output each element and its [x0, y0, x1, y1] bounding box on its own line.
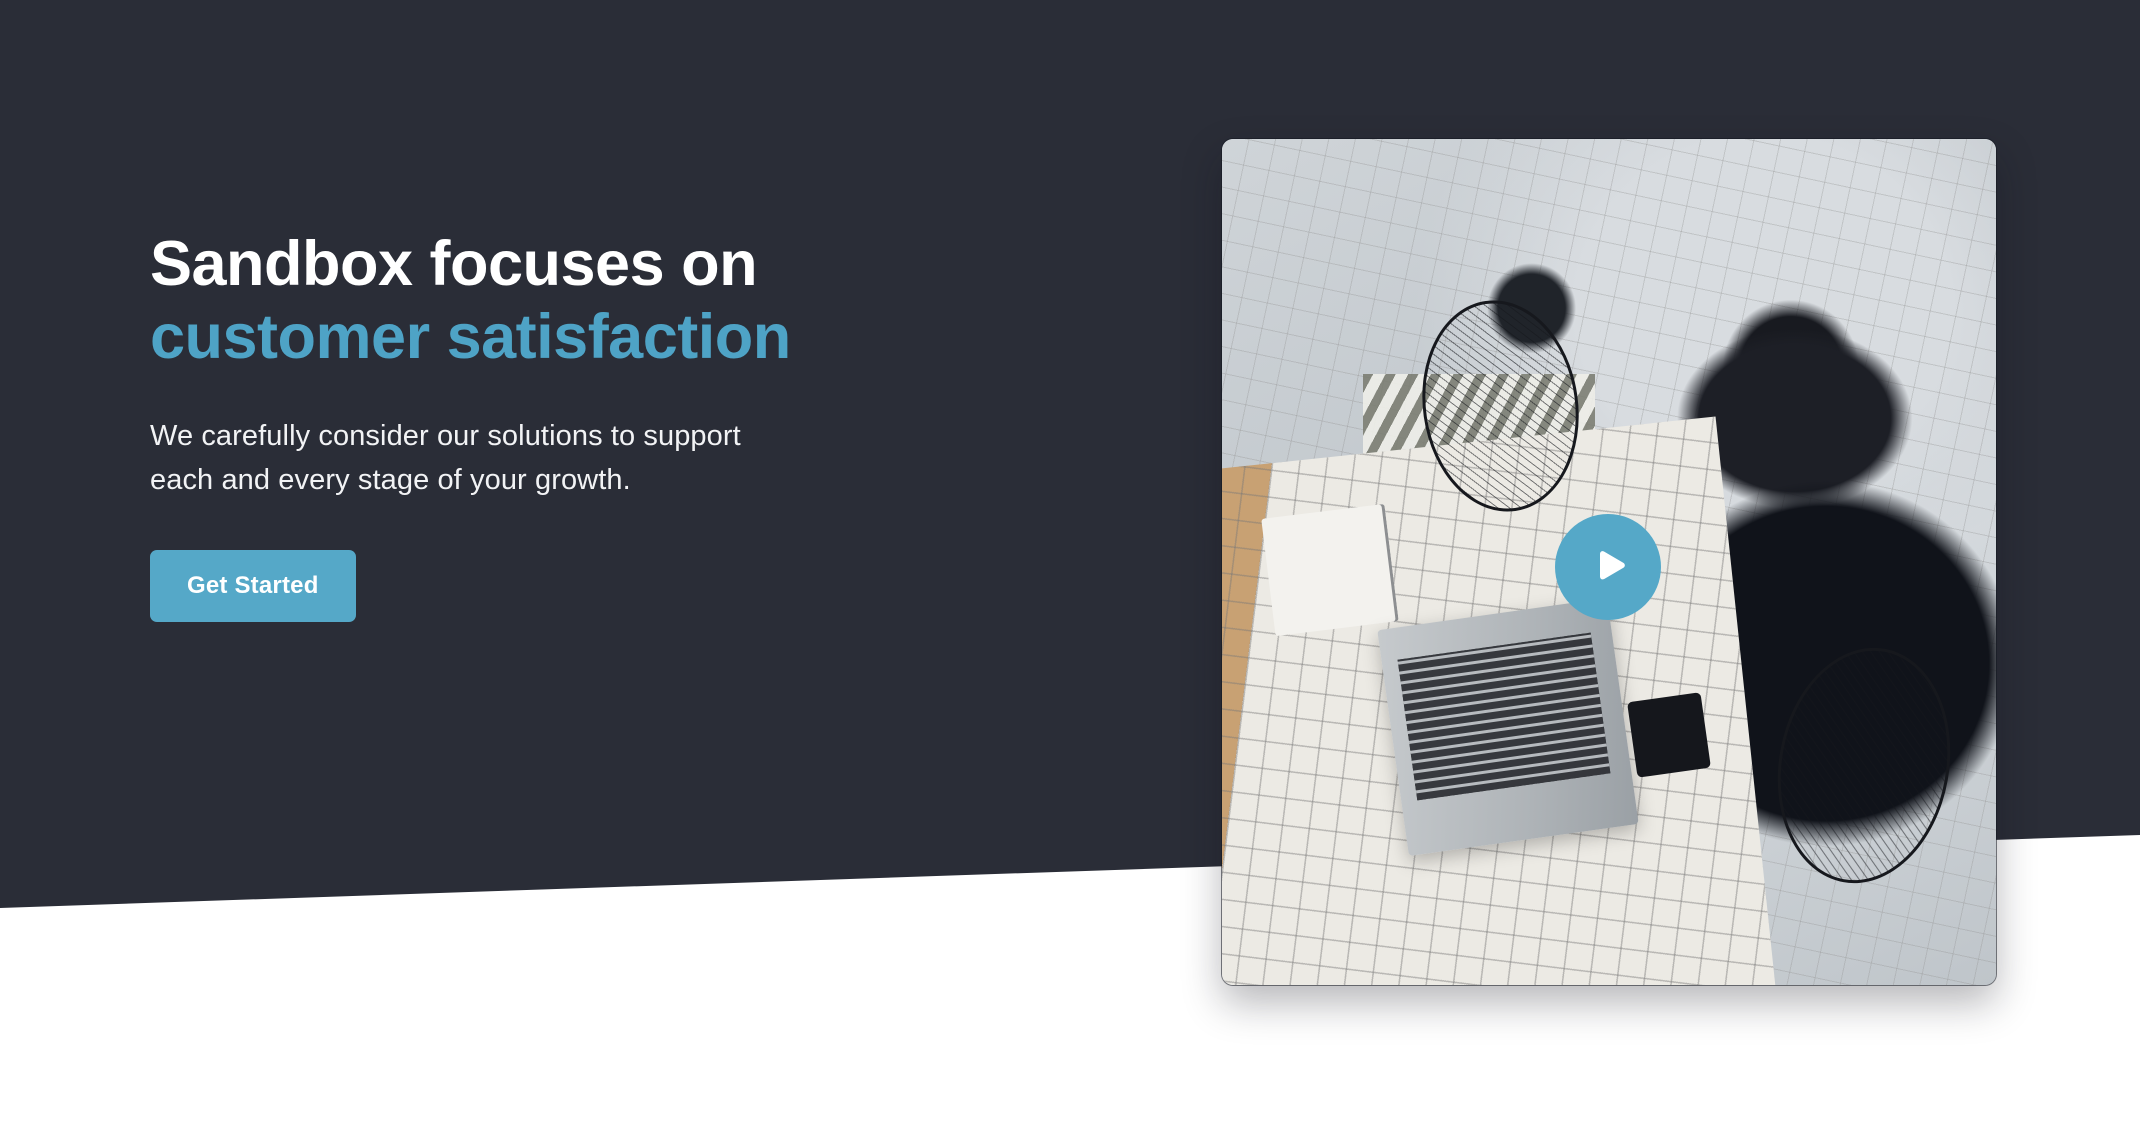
photo-chair-right [1760, 634, 1969, 897]
subtext-line-1: We carefully consider our solutions to s… [150, 414, 1050, 458]
hero-section: Sandbox focuses on customer satisfaction… [0, 0, 2140, 1124]
headline-line-1: Sandbox focuses on [150, 228, 1050, 301]
hero-subtext: We carefully consider our solutions to s… [150, 414, 1050, 502]
photo-laptop-keyboard [1398, 632, 1611, 799]
headline-line-2-accent: customer satisfaction [150, 301, 1050, 374]
hero-copy-block: Sandbox focuses on customer satisfaction… [150, 228, 1050, 622]
subtext-line-2: each and every stage of your growth. [150, 458, 1050, 502]
photo-laptop [1378, 598, 1640, 856]
play-video-button[interactable] [1555, 514, 1661, 620]
photo-phone [1627, 693, 1710, 779]
get-started-button[interactable]: Get Started [150, 550, 356, 622]
play-triangle-icon [1589, 549, 1628, 585]
page-title: Sandbox focuses on customer satisfaction [150, 228, 1050, 374]
photo-notebook [1262, 504, 1399, 637]
